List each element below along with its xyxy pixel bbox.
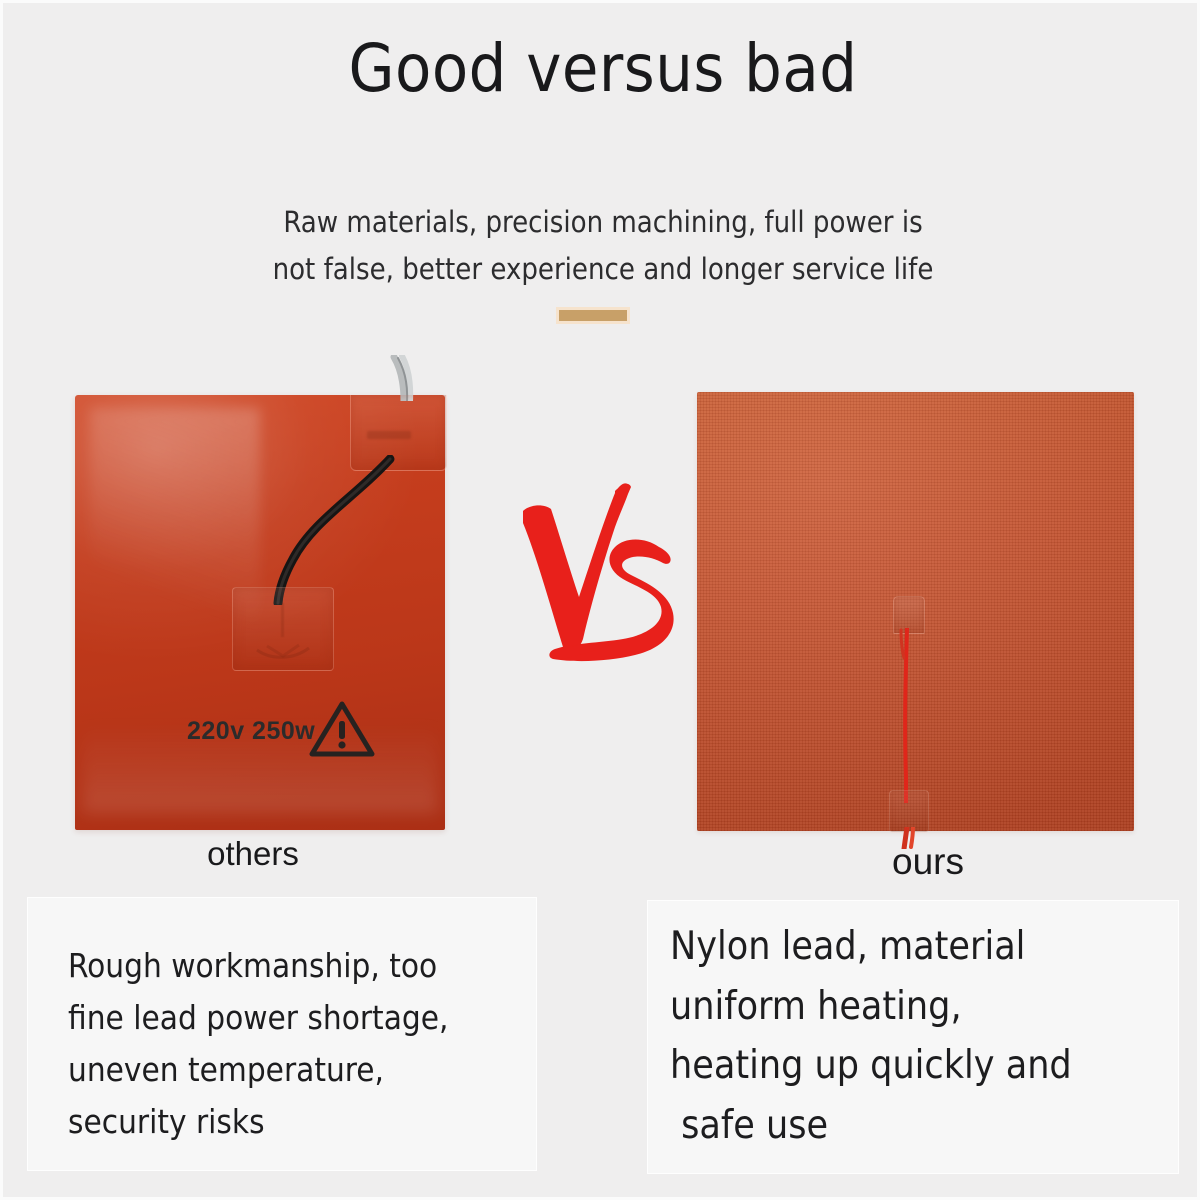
ours-line-3: heating up quickly and <box>670 1036 1072 1096</box>
others-line-4: security risks <box>68 1096 448 1148</box>
gold-divider-bar <box>556 307 630 324</box>
page-title: Good versus bad <box>3 31 1200 107</box>
description-text-others: Rough workmanship, too fine lead power s… <box>68 940 448 1149</box>
description-text-ours: Nylon lead, material uniform heating, he… <box>670 917 1072 1156</box>
black-thermistor-wire-icon <box>235 455 395 605</box>
others-line-1: Rough workmanship, too <box>68 940 448 992</box>
thermistor-patch-center <box>232 587 334 671</box>
ours-line-1: Nylon lead, material <box>670 917 1072 977</box>
versus-badge-icon <box>511 475 681 675</box>
product-image-ours <box>697 392 1134 831</box>
ours-line-2: uniform heating, <box>670 977 1072 1037</box>
subtitle-line-1: Raw materials, precision machining, full… <box>3 199 1200 246</box>
ours-line-4: safe use <box>670 1096 1072 1156</box>
page-subtitle: Raw materials, precision machining, full… <box>3 199 1200 293</box>
warning-triangle-icon <box>308 699 376 759</box>
description-card-ours: Nylon lead, material uniform heating, he… <box>648 901 1178 1173</box>
poster-root: Good versus bad Raw materials, precision… <box>0 0 1200 1200</box>
description-card-others: Rough workmanship, too fine lead power s… <box>28 898 536 1170</box>
caption-ours: ours <box>793 841 1063 883</box>
red-nylon-lead-icon <box>883 628 933 803</box>
pad-spec-label: 220v 250w <box>187 717 315 746</box>
subtitle-line-2: not false, better experience and longer … <box>3 246 1200 293</box>
caption-others: others <box>103 835 403 873</box>
product-image-others: 220v 250w <box>75 395 445 830</box>
patch-emboss-mark <box>233 588 333 670</box>
others-line-3: uneven temperature, <box>68 1044 448 1096</box>
others-line-2: fine lead power shortage, <box>68 992 448 1044</box>
